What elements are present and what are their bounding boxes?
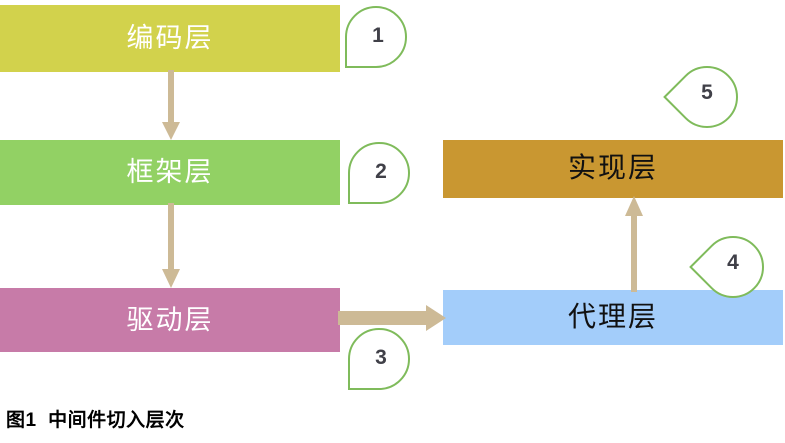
arrow-down-encoding-to-framework [160,70,182,142]
callout-badge-4[interactable]: 4 [702,236,764,298]
callout-badge-5[interactable]: 5 [676,66,738,128]
figure-caption: 图1 中间件切入层次 [6,405,185,432]
callout-badge-1-number: 1 [345,6,407,68]
callout-badge-2-number: 2 [348,142,410,204]
layer-box-driver[interactable]: 驱动层 [0,288,340,352]
callout-badge-3[interactable]: 3 [348,328,410,390]
arrow-up-agent-to-implementation [622,196,646,292]
layer-box-framework[interactable]: 框架层 [0,140,340,205]
layer-box-encoding[interactable]: 编码层 [0,5,340,72]
layer-box-implementation[interactable]: 实现层 [443,140,783,198]
layer-box-framework-label: 框架层 [127,159,214,186]
layer-box-encoding-label: 编码层 [127,25,214,52]
figure-container: 编码层 框架层 驱动层 实现层 代理层 1 [0,0,785,443]
layer-box-driver-label: 驱动层 [127,307,214,334]
callout-badge-5-number: 5 [676,66,738,128]
arrow-down-framework-to-driver [160,203,182,290]
callout-badge-4-number: 4 [702,236,764,298]
callout-badge-1[interactable]: 1 [345,6,407,68]
callout-badge-2[interactable]: 2 [348,142,410,204]
layer-box-implementation-label: 实现层 [568,155,658,183]
layer-box-agent-label: 代理层 [568,304,658,332]
callout-badge-3-number: 3 [348,328,410,390]
